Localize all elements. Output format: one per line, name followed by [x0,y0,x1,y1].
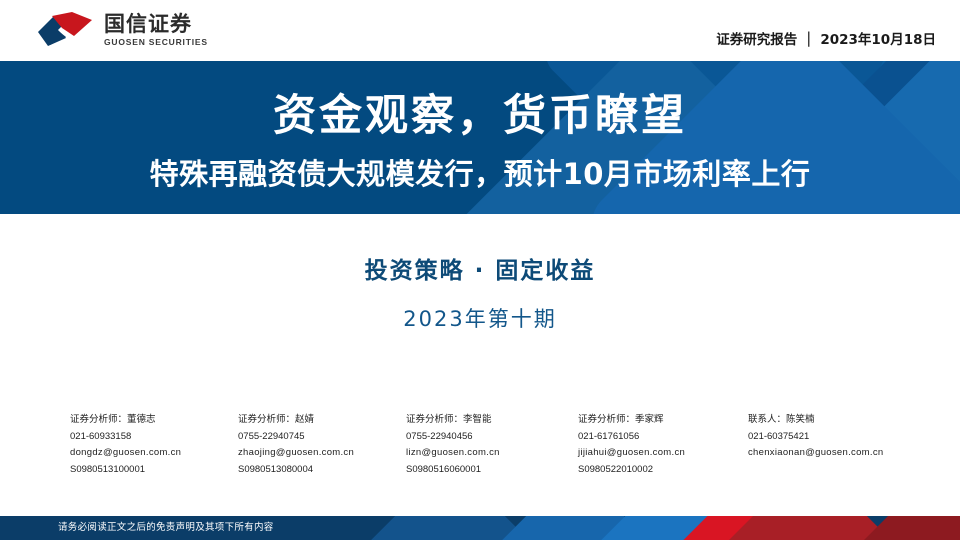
report-type-label: 证券研究报告 [716,28,797,48]
guosen-logo-icon [36,12,94,48]
analyst-phone[interactable]: 0755-22940456 [406,429,578,446]
report-date: 2023年10月18日 [820,28,936,48]
brand-name-cn: 国信证券 [104,14,208,35]
report-title: 资金观察，货币瞭望 [0,95,960,138]
contact-phone[interactable]: 021-60375421 [748,429,928,446]
analyst-name: 证券分析师：董德志 [70,412,238,429]
analyst-name: 证券分析师：赵婧 [238,412,406,429]
page-footer: 请务必阅读正文之后的免责声明及其项下所有内容 [0,516,960,540]
page-header: 国信证券 GUOSEN SECURITIES 证券研究报告 | 2023年10月… [0,0,960,61]
analyst-card: 证券分析师：董德志 021-60933158 dongdz@guosen.com… [70,412,238,479]
header-separator: | [806,29,811,47]
analyst-phone[interactable]: 021-60933158 [70,429,238,446]
analyst-card: 证券分析师：李智能 0755-22940456 lizn@guosen.com.… [406,412,578,479]
analyst-email[interactable]: dongdz@guosen.com.cn [70,445,238,462]
report-issue: 2023年第十期 [0,303,960,333]
analyst-name: 证券分析师：季家辉 [578,412,748,429]
analyst-phone[interactable]: 021-61761056 [578,429,748,446]
analyst-phone[interactable]: 0755-22940745 [238,429,406,446]
contact-card: 联系人：陈笑楠 021-60375421 chenxiaonan@guosen.… [748,412,928,462]
contact-name: 联系人：陈笑楠 [748,412,928,429]
hero-banner: 资金观察，货币瞭望 特殊再融资债大规模发行，预计10月市场利率上行 [0,61,960,214]
report-meta-block: 投资策略 · 固定收益 2023年第十期 [0,214,960,333]
analyst-email[interactable]: jijiahui@guosen.com.cn [578,445,748,462]
report-category: 投资策略 · 固定收益 [0,251,960,285]
header-meta: 证券研究报告 | 2023年10月18日 [716,28,936,48]
brand-logo[interactable]: 国信证券 GUOSEN SECURITIES [36,12,208,48]
analyst-license: S0980522010002 [578,462,748,479]
analyst-card: 证券分析师：赵婧 0755-22940745 zhaojing@guosen.c… [238,412,406,479]
brand-name-en: GUOSEN SECURITIES [104,38,208,47]
analyst-list: 证券分析师：董德志 021-60933158 dongdz@guosen.com… [70,412,930,479]
analyst-license: S0980513080004 [238,462,406,479]
analyst-email[interactable]: lizn@guosen.com.cn [406,445,578,462]
contact-email[interactable]: chenxiaonan@guosen.com.cn [748,445,928,462]
analyst-email[interactable]: zhaojing@guosen.com.cn [238,445,406,462]
brand-logo-text: 国信证券 GUOSEN SECURITIES [104,14,208,47]
analyst-name: 证券分析师：李智能 [406,412,578,429]
footer-disclaimer: 请务必阅读正文之后的免责声明及其项下所有内容 [58,516,274,540]
analyst-license: S0980513100001 [70,462,238,479]
analyst-license: S0980516060001 [406,462,578,479]
report-subtitle: 特殊再融资债大规模发行，预计10月市场利率上行 [0,160,960,189]
analyst-card: 证券分析师：季家辉 021-61761056 jijiahui@guosen.c… [578,412,748,479]
